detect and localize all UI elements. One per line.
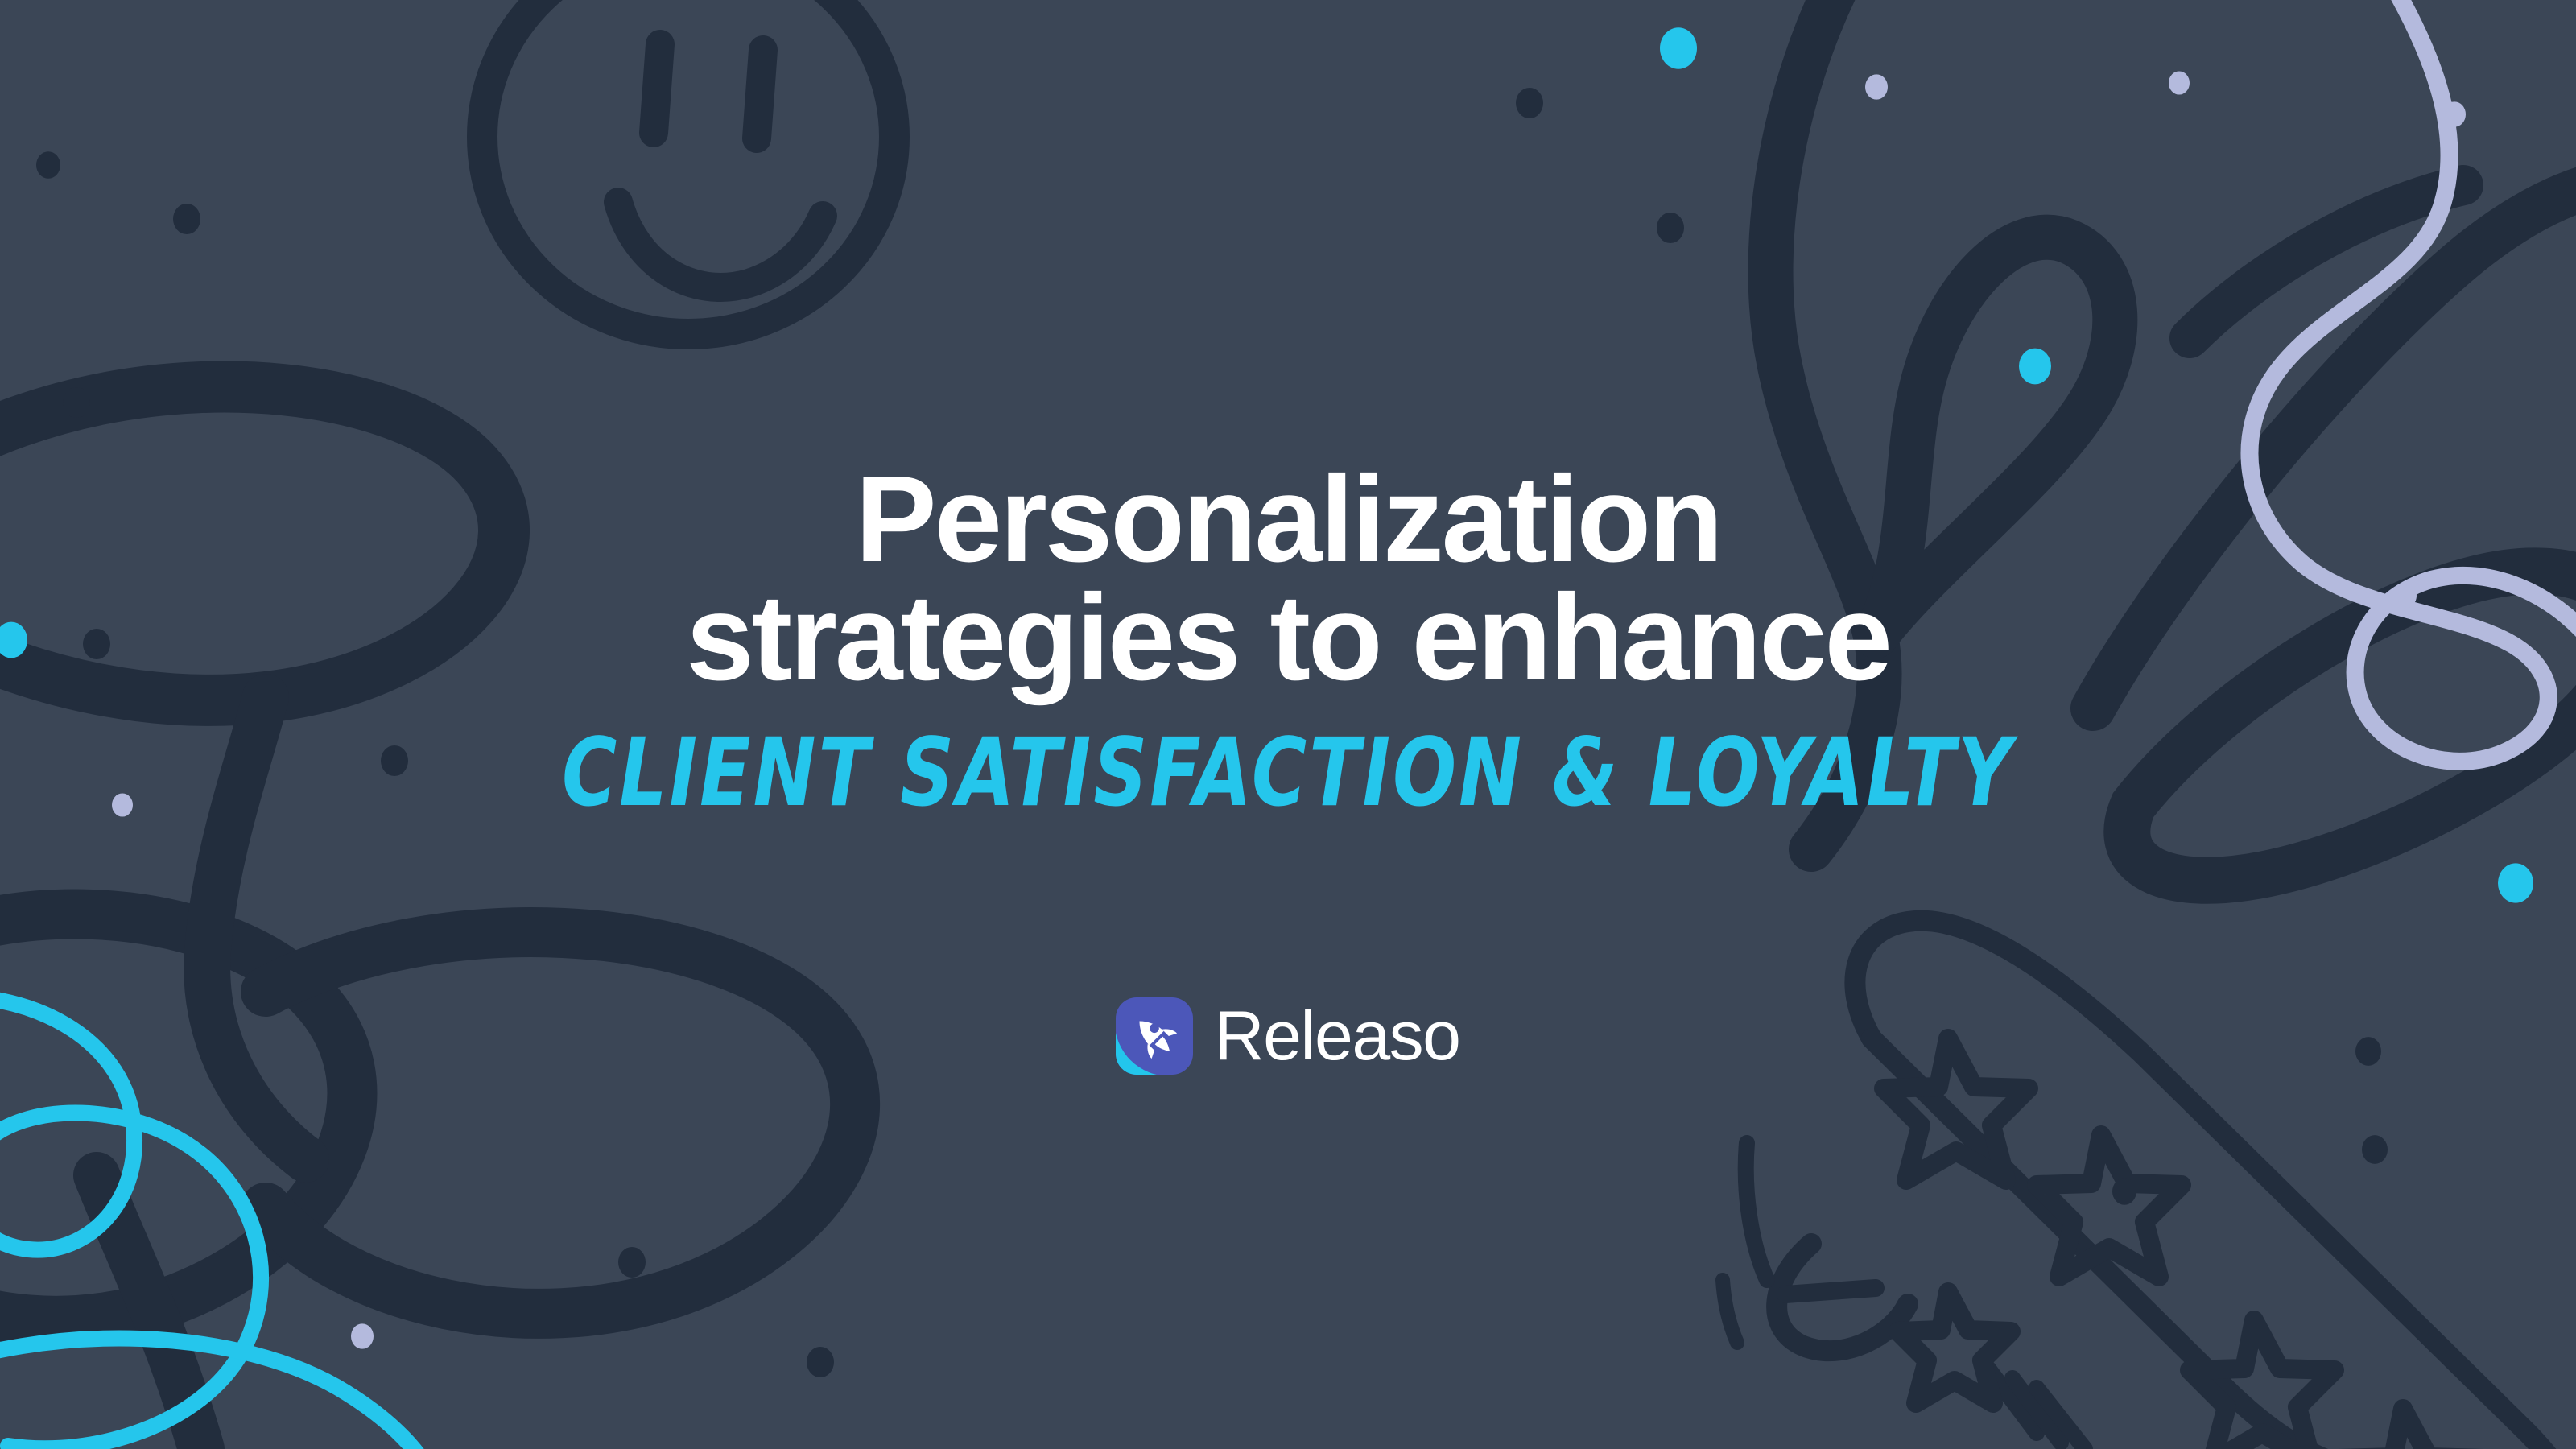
cover-canvas: Personalization strategies to enhance Cl…: [0, 0, 2576, 1449]
brand-wordmark: Releaso: [1214, 1001, 1459, 1071]
brand-lockup: Releaso: [1116, 997, 1459, 1075]
headline-line-1: Personalization: [523, 460, 2053, 579]
headline-line-2: strategies to enhance: [523, 579, 2053, 697]
page-subtitle: Client Satisfaction & Loyalty: [429, 725, 2147, 819]
page-title: Personalization strategies to enhance: [523, 460, 2053, 698]
brand-logo-mark: [1116, 997, 1193, 1075]
cover-content: Personalization strategies to enhance Cl…: [0, 0, 2576, 1449]
rocket-icon: [1129, 1011, 1179, 1061]
